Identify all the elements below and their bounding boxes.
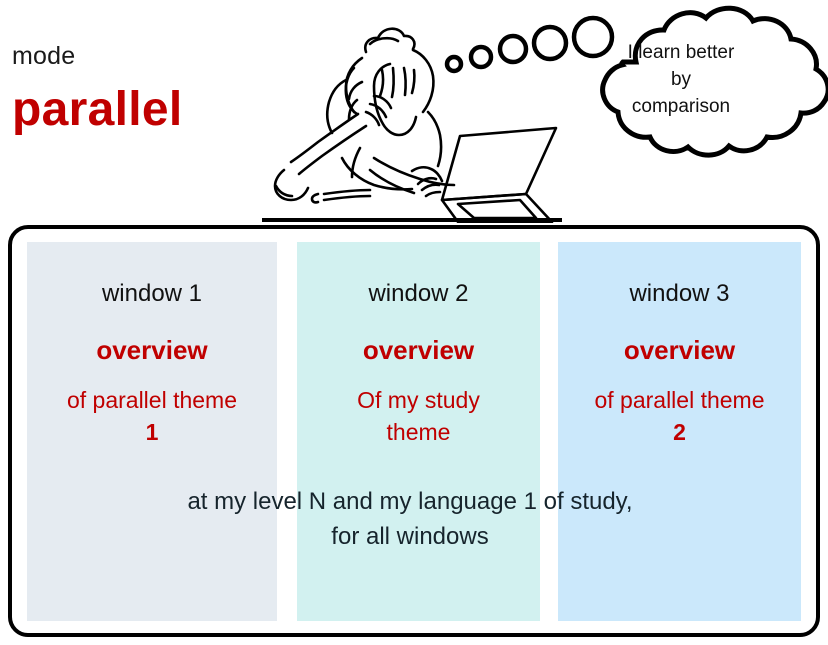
thought-dot-4 bbox=[534, 27, 566, 59]
window-3-theme-number: 2 bbox=[544, 417, 815, 449]
shared-caption: at my level N and my language 1 of study… bbox=[60, 485, 760, 555]
caption-line-2: for all windows bbox=[60, 520, 760, 555]
window-3-overview-subtitle: of parallel theme 2 bbox=[544, 385, 815, 448]
window-2-overview-subtitle: Of my study theme bbox=[283, 385, 554, 448]
window-1-overview: overview of parallel theme 1 bbox=[13, 337, 291, 448]
window-1-overview-word: overview bbox=[13, 337, 291, 363]
caption-line-1: at my level N and my language 1 of study… bbox=[60, 485, 760, 520]
mode-value: parallel bbox=[12, 86, 183, 134]
window-2-overview-word: overview bbox=[283, 337, 554, 363]
window-panel-1[interactable]: window 1 overview of parallel theme 1 bbox=[27, 242, 277, 621]
window-1-subtitle-text: of parallel theme bbox=[13, 385, 291, 417]
window-1-overview-subtitle: of parallel theme 1 bbox=[13, 385, 291, 448]
window-2-subtitle-text: Of my study bbox=[283, 385, 554, 417]
window-panel-2[interactable]: window 2 overview Of my study theme bbox=[297, 242, 540, 621]
window-2-title: window 2 bbox=[297, 282, 540, 306]
thought-dot-3 bbox=[500, 36, 526, 62]
mode-label: mode bbox=[12, 44, 75, 69]
slide-canvas: mode parallel bbox=[0, 0, 828, 645]
window-3-title: window 3 bbox=[558, 282, 801, 306]
window-2-subtitle-text-2: theme bbox=[283, 417, 554, 449]
window-3-overview-word: overview bbox=[544, 337, 815, 363]
thought-bubble-line-2: by bbox=[592, 67, 770, 94]
thought-bubble-line-1: I learn better bbox=[592, 40, 770, 67]
thought-dot-2 bbox=[471, 47, 491, 67]
thought-dot-1 bbox=[447, 57, 461, 71]
window-1-theme-number: 1 bbox=[13, 417, 291, 449]
thought-bubble-line-3: comparison bbox=[592, 94, 770, 121]
window-2-overview: overview Of my study theme bbox=[283, 337, 554, 448]
window-panel-3[interactable]: window 3 overview of parallel theme 2 bbox=[558, 242, 801, 621]
window-1-title: window 1 bbox=[27, 282, 277, 306]
window-3-subtitle-text: of parallel theme bbox=[544, 385, 815, 417]
thought-bubble-text: I learn better by comparison bbox=[592, 40, 770, 121]
window-3-overview: overview of parallel theme 2 bbox=[544, 337, 815, 448]
